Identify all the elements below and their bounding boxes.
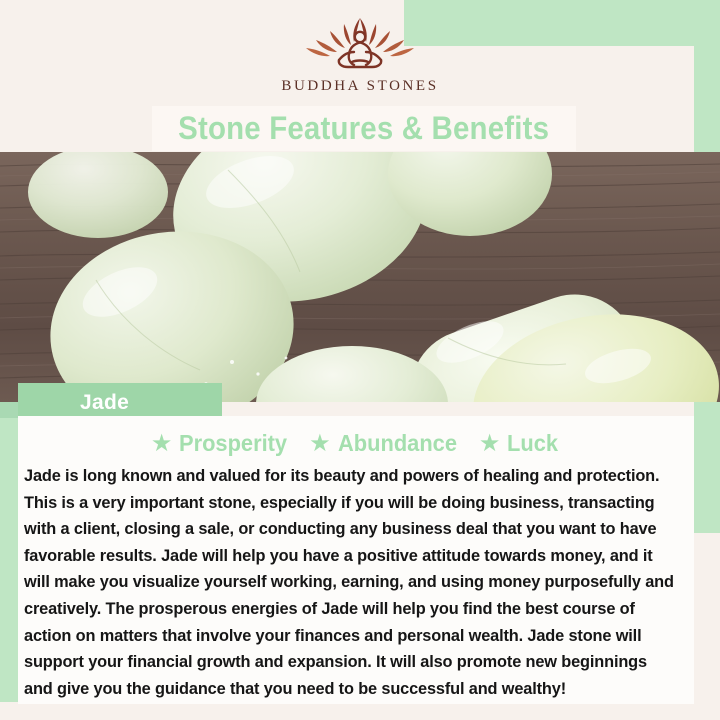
jade-stones-image <box>0 152 720 402</box>
stone-description: Jade is long known and valued for its be… <box>24 463 678 702</box>
keyword-label: Luck <box>507 430 558 457</box>
brand-logo: BUDDHA STONES <box>0 12 720 102</box>
keyword-list: ★ Prosperity ★ Abundance ★ Luck <box>18 416 694 457</box>
decor-green-left-band <box>0 392 18 702</box>
keyword-label: Abundance <box>338 430 457 457</box>
star-icon: ★ <box>309 432 331 456</box>
keyword-item-prosperity: ★ Prosperity <box>151 430 293 457</box>
lotus-meditation-icon <box>294 12 426 76</box>
stone-name-label: Jade <box>80 391 129 415</box>
keyword-item-luck: ★ Luck <box>479 430 561 457</box>
keyword-label: Prosperity <box>179 430 287 457</box>
content-card: ★ Prosperity ★ Abundance ★ Luck Jade is … <box>18 416 694 704</box>
stone-photo <box>0 152 720 402</box>
stone-info-card: BUDDHA STONES Stone Features & Benefits <box>0 0 720 720</box>
keyword-item-abundance: ★ Abundance <box>309 430 463 457</box>
star-icon: ★ <box>479 432 501 456</box>
brand-wordmark: BUDDHA STONES <box>281 78 438 95</box>
page-title: Stone Features & Benefits <box>178 110 549 147</box>
star-icon: ★ <box>151 432 173 456</box>
title-banner: Stone Features & Benefits <box>152 106 576 151</box>
